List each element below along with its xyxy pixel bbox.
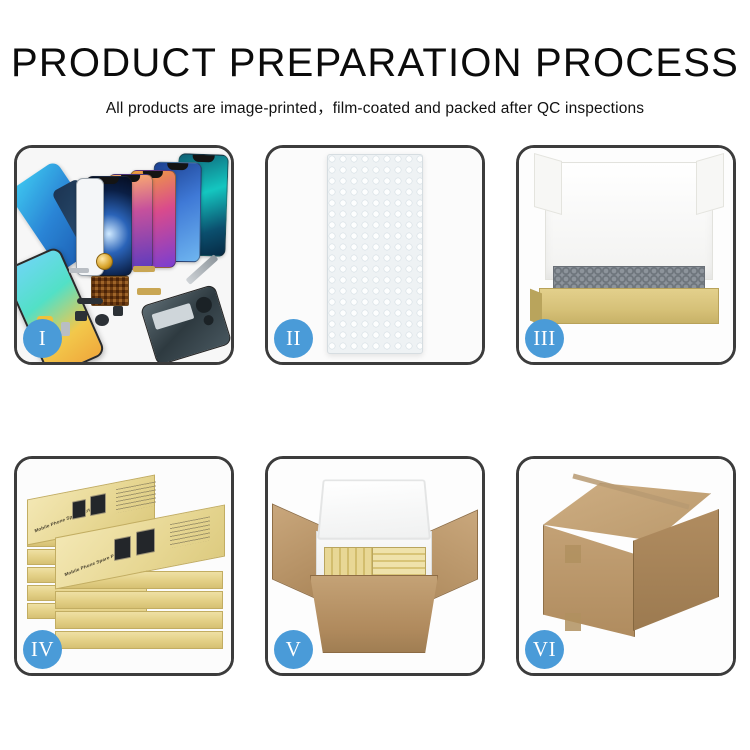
carton-front-face <box>543 525 635 637</box>
step-badge-1: I <box>23 319 62 358</box>
carton-body <box>310 575 438 653</box>
step-badge-4: IV <box>23 630 62 669</box>
box-lid-product-image <box>136 528 155 556</box>
box-edge <box>55 631 223 649</box>
kraft-box-base <box>539 288 719 324</box>
box-edge <box>55 611 223 629</box>
bubble-wrap-bag <box>327 154 423 354</box>
step-panel-1[interactable]: I <box>14 145 234 365</box>
step-panel-3[interactable]: III <box>516 145 736 365</box>
gold-contact-part <box>137 288 161 295</box>
small-bracket-part <box>75 311 87 321</box>
flex-cable-part <box>77 298 103 304</box>
phone-notch-icon <box>167 163 188 170</box>
step-panel-6[interactable]: VI <box>516 456 736 676</box>
page-title: PRODUCT PREPARATION PROCESS <box>0 42 750 84</box>
step-badge-6: VI <box>525 630 564 669</box>
box-lid-spec-lines <box>170 516 210 548</box>
carton-tape-patch <box>565 613 581 631</box>
screw-part <box>113 306 123 316</box>
sim-tray-part <box>61 322 70 336</box>
step-badge-5: V <box>274 630 313 669</box>
box-lid-spec-lines <box>116 481 156 513</box>
steps-grid: I II <box>14 145 736 677</box>
step-panel-5[interactable]: V <box>265 456 485 676</box>
copper-coil-part <box>96 253 113 270</box>
step-panel-4[interactable]: Mobile Phone Spare Parts Mobile Phone Sp… <box>14 456 234 676</box>
box-lid-product-image <box>114 536 131 561</box>
phone-back-housing <box>140 284 231 362</box>
speaker-part <box>95 314 109 326</box>
step-panel-2[interactable]: II <box>265 145 485 365</box>
phone-notch-icon <box>192 155 214 163</box>
header: PRODUCT PREPARATION PROCESS All products… <box>0 0 750 118</box>
connector-part <box>69 268 89 273</box>
box-edge <box>55 591 223 609</box>
styrofoam-lid <box>317 479 431 539</box>
carton-tape-patch <box>565 545 581 563</box>
box-lid-product-image <box>90 493 106 516</box>
step-badge-3: III <box>525 319 564 358</box>
product-preparation-infographic: PRODUCT PREPARATION PROCESS All products… <box>0 0 750 750</box>
gold-contact-part <box>133 266 155 272</box>
step-badge-2: II <box>274 319 313 358</box>
page-subtitle: All products are image-printed，film-coat… <box>0 96 750 118</box>
white-box-lid <box>545 162 713 280</box>
box-lid-product-image <box>72 499 86 520</box>
